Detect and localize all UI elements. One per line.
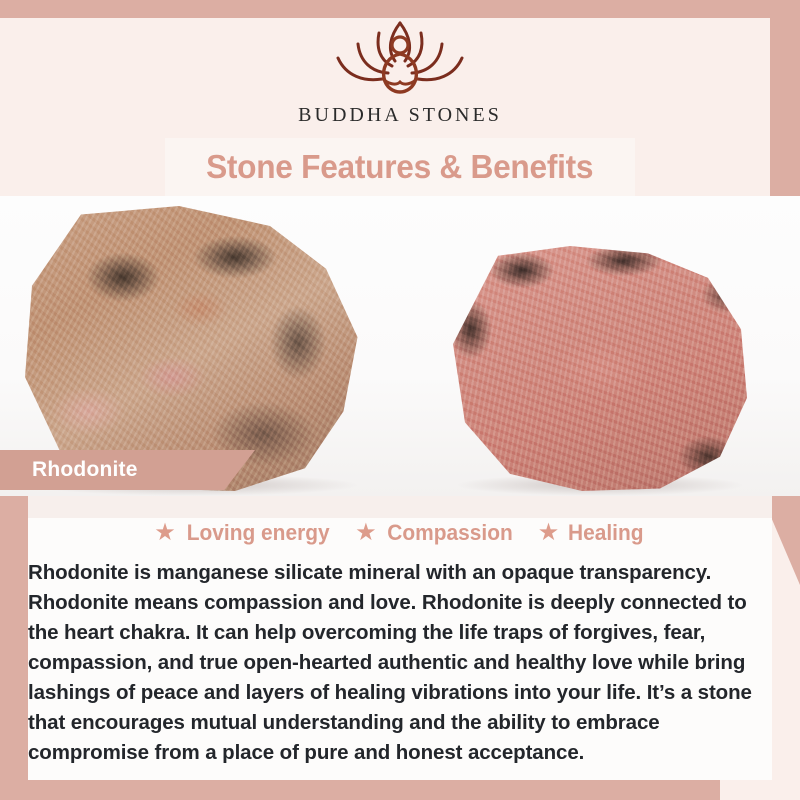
feature-label: Healing	[568, 520, 643, 546]
stone-name: Rhodonite	[32, 458, 138, 482]
feature-item: ★ Compassion	[346, 520, 525, 546]
brand-name: BUDDHA STONES	[298, 104, 502, 127]
content-top-strip	[28, 496, 772, 518]
content-panel: ★ Loving energy ★ Compassion ★ Healing R…	[28, 496, 772, 780]
feature-item: ★ Healing	[529, 520, 655, 546]
feature-label: Compassion	[387, 520, 512, 546]
frame-band-top	[0, 0, 800, 18]
title-banner: Stone Features & Benefits	[165, 138, 635, 196]
star-icon: ★	[538, 521, 560, 545]
star-icon: ★	[154, 521, 176, 545]
rhodonite-stone-left	[18, 206, 368, 491]
frame-band-bottom	[0, 780, 720, 800]
stone-name-tag: Rhodonite	[0, 450, 255, 490]
poster-root: BUDDHA STONES Stone Features & Benefits …	[0, 0, 800, 800]
feature-label: Loving energy	[187, 520, 330, 546]
brand-logo: BUDDHA STONES	[0, 18, 800, 140]
page-title: Stone Features & Benefits	[206, 148, 593, 186]
feature-item: ★ Loving energy	[145, 520, 342, 546]
stone-description: Rhodonite is manganese silicate mineral …	[28, 558, 772, 768]
description-text: Rhodonite is manganese silicate mineral …	[28, 558, 772, 768]
rhodonite-stone-right	[450, 246, 750, 491]
star-icon: ★	[355, 521, 377, 545]
feature-list: ★ Loving energy ★ Compassion ★ Healing	[28, 520, 772, 546]
lotus-meditation-logo-icon	[316, 18, 484, 102]
